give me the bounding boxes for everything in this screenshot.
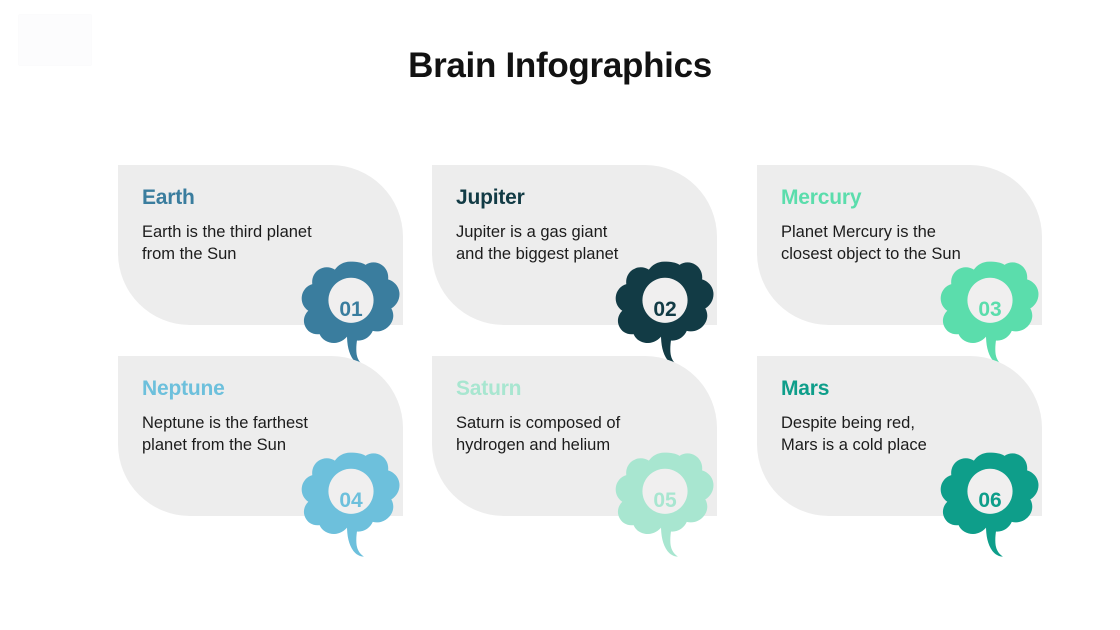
brain-icon: 04 [286, 451, 416, 559]
card-description: Saturn is composed of hydrogen and heliu… [456, 412, 706, 456]
card-heading: Saturn [456, 377, 521, 401]
brain-icon: 05 [600, 451, 730, 559]
infographic-card-grid: EarthEarth is the third planet from the … [0, 0, 1120, 630]
card-heading: Mercury [781, 186, 861, 210]
card-number-badge: 05 [637, 473, 693, 529]
card-heading: Jupiter [456, 186, 525, 210]
card-description: Jupiter is a gas giant and the biggest p… [456, 221, 706, 265]
card-number-badge: 02 [637, 282, 693, 338]
card-number-badge: 03 [962, 282, 1018, 338]
card-heading: Neptune [142, 377, 225, 401]
info-card-saturn[interactable]: SaturnSaturn is composed of hydrogen and… [432, 356, 777, 556]
brain-icon: 03 [925, 260, 1055, 368]
info-card-jupiter[interactable]: JupiterJupiter is a gas giant and the bi… [432, 165, 777, 365]
card-description: Neptune is the farthest planet from the … [142, 412, 392, 456]
card-heading: Mars [781, 377, 829, 401]
card-number-badge: 01 [323, 282, 379, 338]
card-description: Planet Mercury is the closest object to … [781, 221, 1031, 265]
card-description: Despite being red, Mars is a cold place [781, 412, 1031, 456]
card-heading: Earth [142, 186, 195, 210]
card-number-badge: 04 [323, 473, 379, 529]
card-number-badge: 06 [962, 473, 1018, 529]
brain-icon: 01 [286, 260, 416, 368]
brain-icon: 02 [600, 260, 730, 368]
card-description: Earth is the third planet from the Sun [142, 221, 392, 265]
info-card-earth[interactable]: EarthEarth is the third planet from the … [118, 165, 463, 365]
info-card-neptune[interactable]: NeptuneNeptune is the farthest planet fr… [118, 356, 463, 556]
brain-icon: 06 [925, 451, 1055, 559]
info-card-mercury[interactable]: MercuryPlanet Mercury is the closest obj… [757, 165, 1102, 365]
info-card-mars[interactable]: MarsDespite being red, Mars is a cold pl… [757, 356, 1102, 556]
